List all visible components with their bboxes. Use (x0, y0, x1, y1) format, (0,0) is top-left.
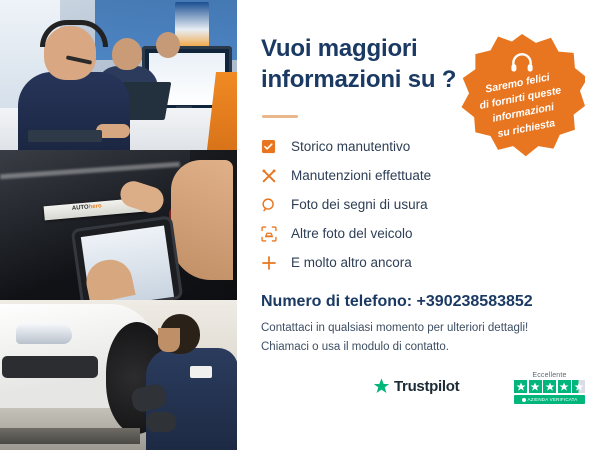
mechanic-glove-lower (146, 412, 176, 432)
promo-card: AUTOhero Vuoi maggiori informazioni su ? (0, 0, 600, 450)
star-5-half (572, 380, 585, 393)
star-2 (529, 380, 542, 393)
mechanic-face (158, 328, 180, 352)
contact-description: Contattaci in qualsiasi momento per ulte… (261, 319, 581, 357)
car-scan-icon (261, 226, 287, 242)
call-center-photo (0, 0, 237, 150)
plus-icon (261, 255, 287, 271)
star-rating (514, 380, 585, 393)
trustpilot-star-icon (373, 378, 390, 395)
keyboard (28, 130, 102, 142)
trustpilot-logo: Trustpilot (373, 378, 459, 395)
verified-badge: AZIENDA VERIFICATA (514, 395, 585, 404)
list-item-label: Altre foto del veicolo (287, 226, 413, 241)
wheel-inspection-photo (0, 300, 237, 450)
phone-number[interactable]: Numero di telefono: +390238583852 (261, 293, 533, 311)
list-item-label: Manutenzioni effettuate (287, 168, 431, 183)
feature-list: Storico manutentivo Manutenzioni effettu… (261, 132, 591, 277)
star-4 (558, 380, 571, 393)
list-item[interactable]: Foto dei segni di usura (261, 190, 591, 219)
list-item[interactable]: Storico manutentivo (261, 132, 591, 161)
checked-clipboard-icon (261, 139, 287, 154)
list-item-label: E molto altro ancora (287, 255, 412, 270)
inspector-arm (171, 160, 233, 280)
magnifier-icon (261, 197, 287, 213)
crossed-tools-icon (261, 168, 287, 184)
trustpilot-wordmark: Trustpilot (394, 378, 459, 395)
headset-icon (509, 50, 535, 76)
trustpilot-widget[interactable]: Trustpilot Eccellente AZIENDA VERIFICATA (373, 372, 585, 416)
photo-column: AUTOhero (0, 0, 237, 450)
agent-3-head (156, 32, 180, 58)
rating-label: Eccellente (514, 372, 585, 379)
car-lift (0, 428, 140, 444)
page-title: Vuoi maggiori informazioni su ? (261, 34, 471, 95)
car-inspection-photo: AUTOhero (0, 150, 237, 300)
contact-line-1: Contattaci in qualsiasi momento per ulte… (261, 319, 581, 338)
list-item-label: Storico manutentivo (287, 139, 410, 154)
headlight (16, 324, 72, 344)
trustpilot-rating: Eccellente AZIENDA VERIFICATA (514, 372, 585, 404)
list-item-label: Foto dei segni di usura (287, 197, 428, 212)
star-1 (514, 380, 527, 393)
list-item[interactable]: Altre foto del veicolo (261, 219, 591, 248)
list-item[interactable]: E molto altro ancora (261, 248, 591, 277)
verified-label: AZIENDA VERIFICATA (528, 397, 578, 402)
star-3 (543, 380, 556, 393)
agent-2-head (112, 38, 142, 70)
uniform-patch (190, 366, 212, 378)
content-panel: Vuoi maggiori informazioni su ? Saremo f… (237, 0, 600, 450)
verified-check-icon (522, 398, 526, 402)
list-item[interactable]: Manutenzioni effettuate (261, 161, 591, 190)
wall-poster (175, 2, 209, 48)
front-grille (2, 356, 98, 378)
title-underline (262, 115, 298, 118)
contact-line-2: Chiamaci o usa il modulo di contatto. (261, 338, 581, 357)
